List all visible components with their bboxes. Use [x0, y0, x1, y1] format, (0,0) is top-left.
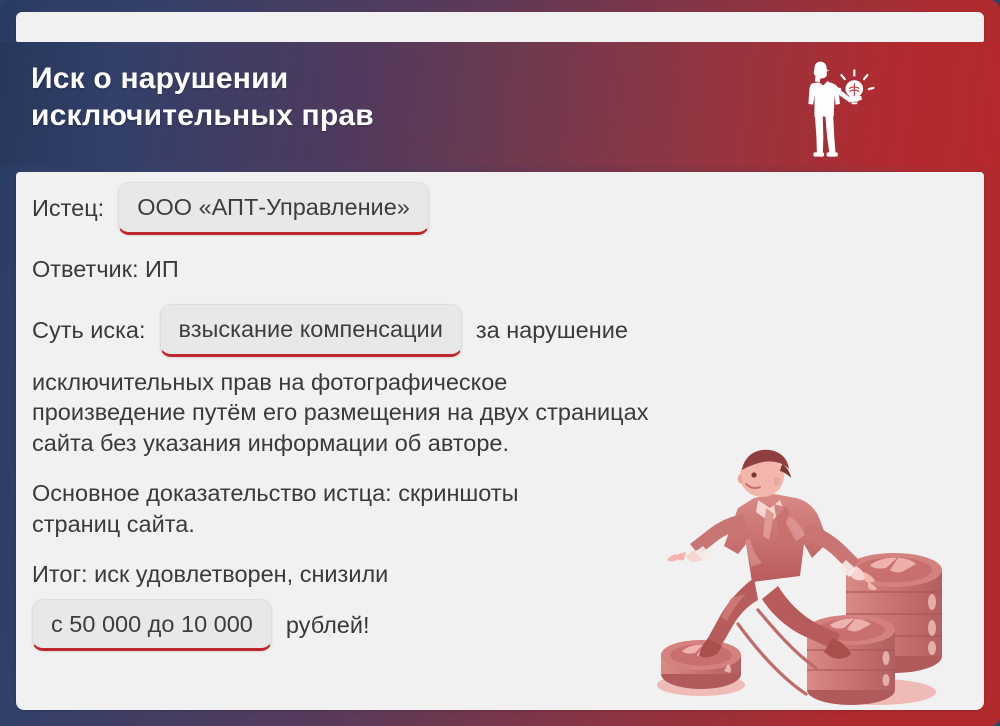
page-title: Иск о нарушении исключительных прав: [31, 61, 374, 134]
header-band: Иск о нарушении исключительных прав: [0, 42, 1000, 166]
claim-value-chip[interactable]: взыскание компенсации: [160, 304, 462, 357]
body-panel: Истец: ООО «АПТ-Управление» Ответчик: ИП…: [16, 172, 984, 710]
amount-value-chip[interactable]: с 50 000 до 10 000: [32, 599, 272, 652]
plaintiff-label: Истец:: [32, 193, 104, 224]
amount-row: с 50 000 до 10 000 рублей!: [32, 599, 832, 652]
content-column: Истец: ООО «АПТ-Управление» Ответчик: ИП…: [32, 182, 832, 651]
defendant-line: Ответчик: ИП: [32, 254, 832, 285]
claim-paragraph: исключительных прав на фотографическое п…: [32, 367, 832, 459]
claim-row: Суть иска: взыскание компенсации за нару…: [32, 304, 832, 357]
claim-suffix: за нарушение: [476, 315, 628, 346]
amount-suffix: рублей!: [286, 610, 370, 641]
plaintiff-value-chip[interactable]: ООО «АПТ-Управление»: [118, 182, 429, 235]
top-blank-strip: [16, 12, 984, 42]
evidence-paragraph: Основное доказательство истца: скриншоты…: [32, 478, 832, 539]
result-line: Итог: иск удовлетворен, снизили: [32, 559, 832, 590]
claim-label: Суть иска:: [32, 315, 146, 346]
plaintiff-row: Истец: ООО «АПТ-Управление»: [32, 182, 832, 235]
idea-man-icon: [798, 52, 878, 160]
infographic-card: Иск о нарушении исключительных прав: [0, 0, 1000, 726]
